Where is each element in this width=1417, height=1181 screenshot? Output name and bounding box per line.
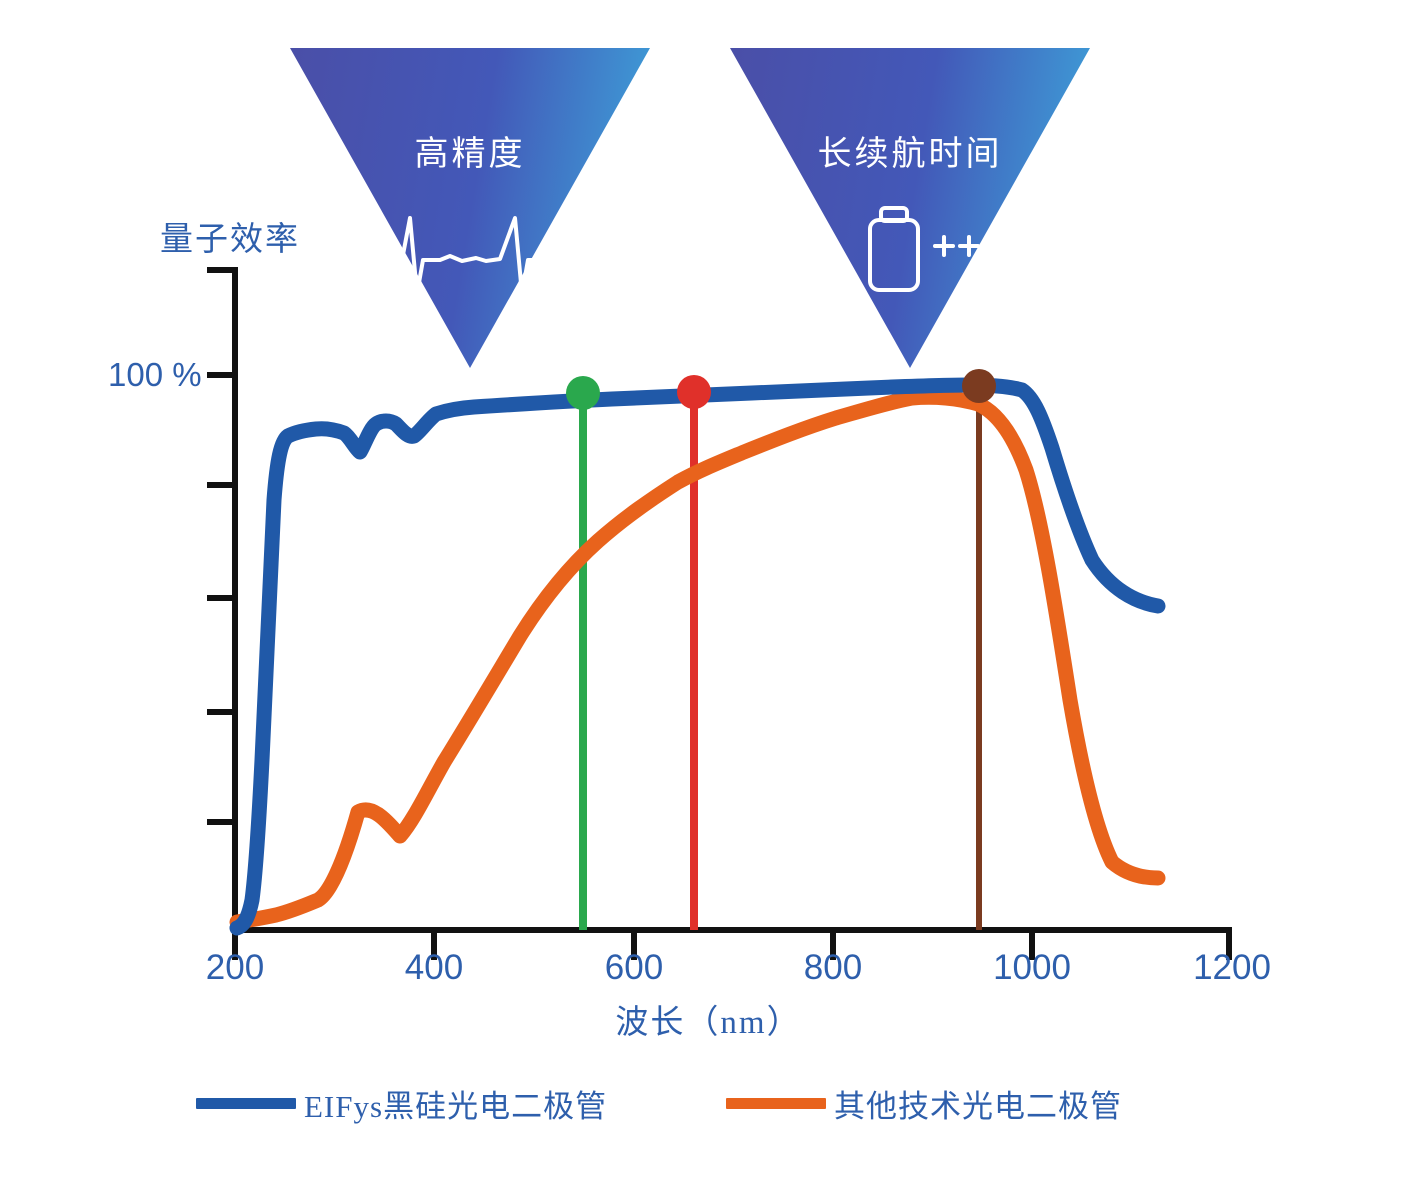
legend-label-other: 其他技术光电二极管: [834, 1081, 1122, 1126]
x-tick-label-400: 400: [374, 948, 494, 988]
marker-dot-green[interactable]: [566, 376, 600, 410]
marker-dot-brown[interactable]: [962, 369, 996, 403]
legend-item-eifys[interactable]: EIFys黑硅光电二极管: [196, 1080, 607, 1126]
x-tick-label-200: 200: [175, 948, 295, 988]
legend-swatch-orange: [726, 1098, 826, 1109]
x-axis-label: 波长（nm）: [0, 995, 1417, 1043]
marker-dot-red[interactable]: [677, 375, 711, 409]
marker-lines: [583, 388, 979, 930]
y-axis-label: 量子效率: [160, 212, 300, 260]
x-tick-label-1000: 1000: [972, 948, 1092, 988]
chart-legend: EIFys黑硅光电二极管 其他技术光电二极管: [196, 1080, 1216, 1126]
x-tick-label-1200: 1200: [1172, 948, 1292, 988]
axis-lines: [207, 267, 1232, 960]
x-tick-label-800: 800: [773, 948, 893, 988]
legend-swatch-blue: [196, 1098, 296, 1109]
legend-label-eifys: EIFys黑硅光电二极管: [304, 1081, 607, 1126]
y-tick-label-100: 100 %: [108, 356, 202, 394]
x-tick-label-600: 600: [574, 948, 694, 988]
legend-item-other[interactable]: 其他技术光电二极管: [726, 1080, 1122, 1126]
chart-page: 高精度 长续航时间: [0, 0, 1417, 1181]
